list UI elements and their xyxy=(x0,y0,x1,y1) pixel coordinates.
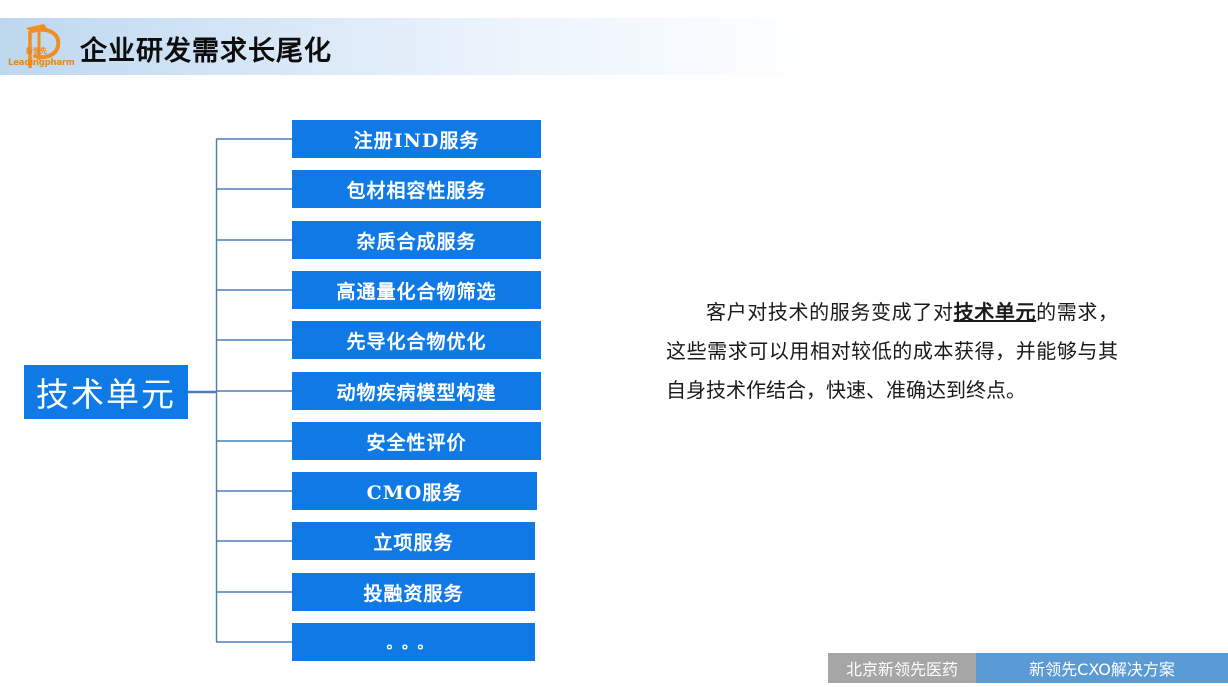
paragraph-emphasis: 技术单元 xyxy=(954,300,1037,324)
tree-leaf-node[interactable]: 安全性评价 xyxy=(292,422,541,460)
tree-leaf-node[interactable]: CMO服务 xyxy=(292,472,537,510)
body-paragraph: 客户对技术的服务变成了对技术单元的需求，这些需求可以用相对较低的成本获得，并能够… xyxy=(666,293,1118,410)
tree-leaf-node-ellipsis[interactable]: 。。。 xyxy=(292,623,535,661)
tree-leaf-node[interactable]: 包材相容性服务 xyxy=(292,170,541,208)
tree-leaf-node[interactable]: 高通量化合物筛选 xyxy=(292,271,541,309)
paragraph-text-part1: 客户对技术的服务变成了对 xyxy=(706,300,954,324)
tree-leaf-node[interactable]: 杂质合成服务 xyxy=(292,221,541,259)
tree-leaf-node[interactable]: 注册IND服务 xyxy=(292,120,541,158)
footer-company-label: 北京新领先医药 xyxy=(828,653,976,683)
tree-leaf-node[interactable]: 立项服务 xyxy=(292,522,535,560)
tree-root-node[interactable]: 技术单元 xyxy=(24,365,188,419)
footer-solution-label: 新领先CXO解决方案 xyxy=(976,653,1228,683)
tree-leaf-node[interactable]: 动物疾病模型构建 xyxy=(292,372,541,410)
tree-leaf-node[interactable]: 先导化合物优化 xyxy=(292,321,541,359)
tree-leaf-node[interactable]: 投融资服务 xyxy=(292,573,535,611)
